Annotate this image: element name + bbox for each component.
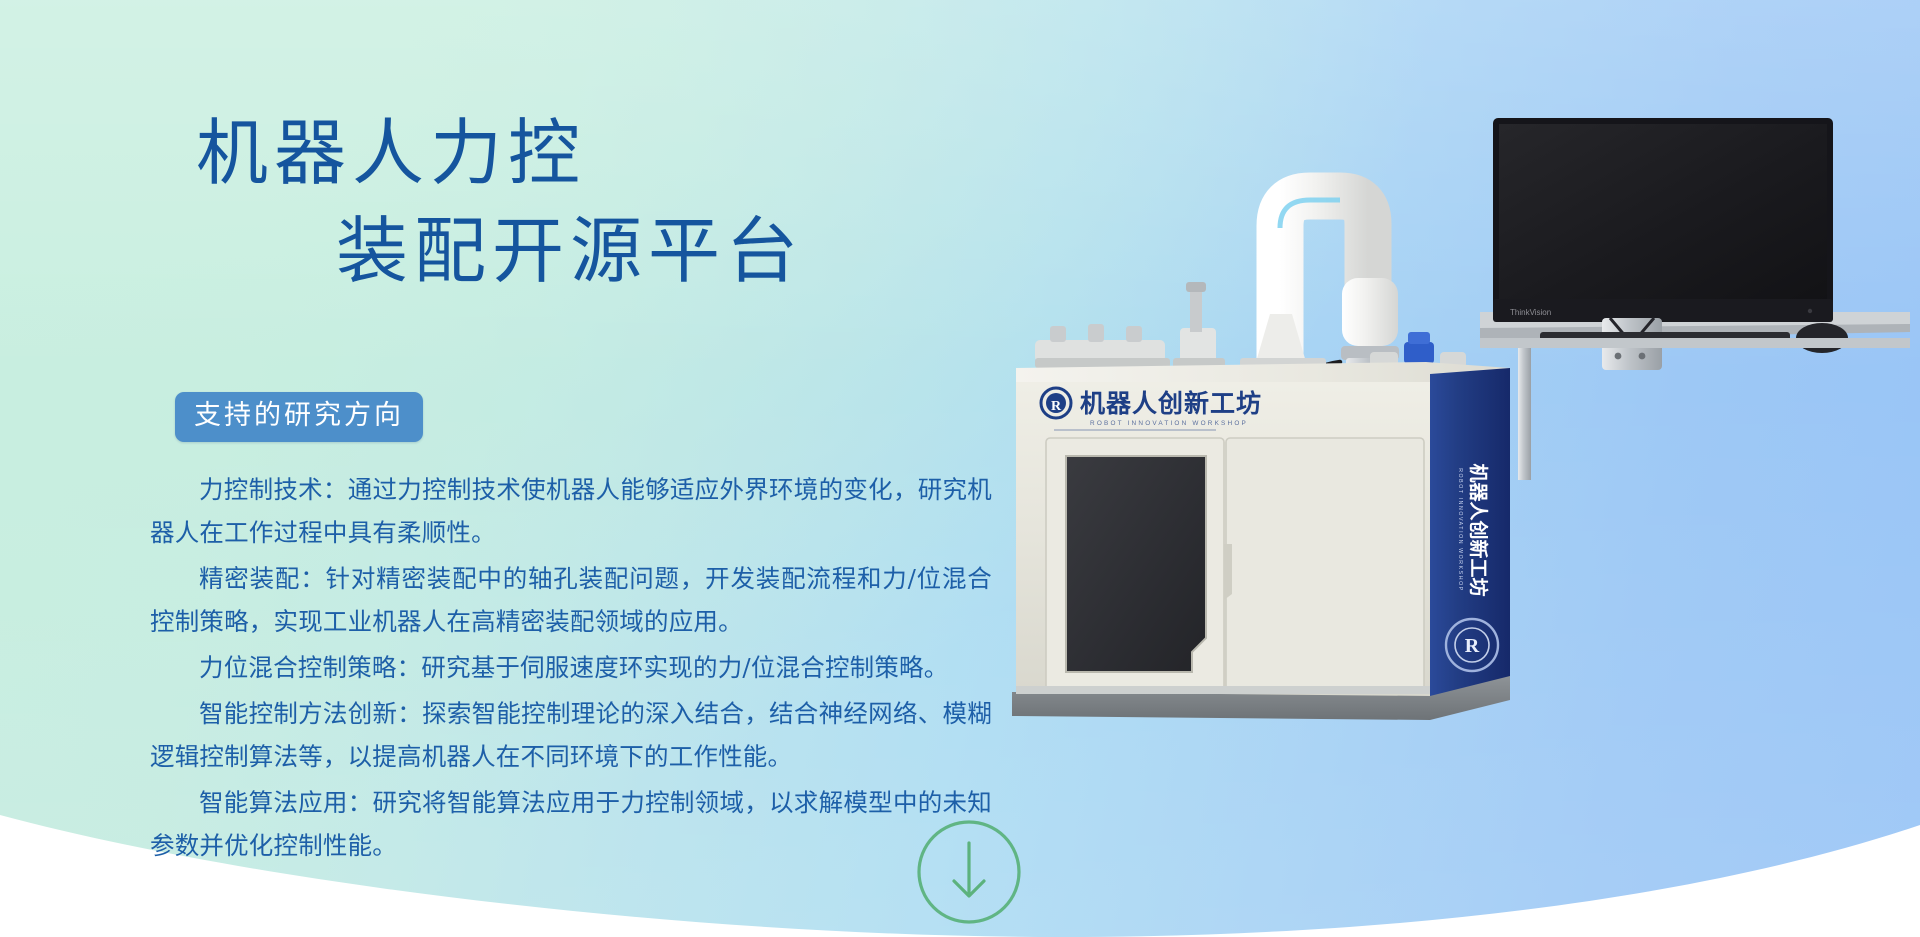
svg-text:R: R bbox=[1051, 399, 1062, 414]
research-item: 力位混合控制策略：研究基于伺服速度环实现的力/位混合控制策略。 bbox=[150, 646, 992, 689]
research-directions-list: 力控制技术：通过力控制技术使机器人能够适应外界环境的变化，研究机器人在工作过程中… bbox=[150, 468, 992, 870]
cabinet-logo-en: ROBOT INNOVATION WORKSHOP bbox=[1090, 420, 1248, 427]
equipment-cabinet: 机器人创新工坊 ROBOT INNOVATION WORKSHOP R R 机器… bbox=[1012, 362, 1510, 720]
research-item: 力控制技术：通过力控制技术使机器人能够适应外界环境的变化，研究机器人在工作过程中… bbox=[150, 468, 992, 554]
door-handle[interactable] bbox=[1224, 544, 1232, 600]
monitor-assembly: ThinkVision bbox=[1480, 118, 1910, 480]
scroll-down-button[interactable] bbox=[914, 817, 1024, 927]
section-badge: 支持的研究方向 bbox=[175, 392, 423, 442]
research-item: 智能算法应用：研究将智能算法应用于力控制领域，以求解模型中的未知参数并优化控制性… bbox=[150, 781, 992, 867]
research-item: 精密装配：针对精密装配中的轴孔装配问题，开发装配流程和力/位混合控制策略，实现工… bbox=[150, 557, 992, 643]
door-window bbox=[1066, 456, 1206, 672]
monitor-brand-label: ThinkVision bbox=[1510, 308, 1551, 317]
cabinet-door-right[interactable] bbox=[1226, 438, 1424, 690]
hero-banner: 机器人力控 装配开源平台 支持的研究方向 力控制技术：通过力控制技术使机器人能够… bbox=[0, 0, 1920, 937]
side-panel-logo-cn: 机器人创新工坊 bbox=[1467, 463, 1490, 596]
side-panel-logo: 机器人创新工坊 ROBOT INNOVATION WORKSHOP bbox=[1457, 463, 1490, 596]
cabinet-logo-cn: 机器人创新工坊 bbox=[1080, 389, 1262, 418]
research-item: 智能控制方法创新：探索智能控制理论的深入结合，结合神经网络、模糊逻辑控制算法等，… bbox=[150, 692, 992, 778]
workstation-illustration: ThinkVision bbox=[1010, 100, 1910, 800]
arrow-down-icon[interactable] bbox=[914, 817, 1024, 927]
svg-text:R: R bbox=[1465, 635, 1480, 657]
page-title: 机器人力控 装配开源平台 bbox=[0, 104, 980, 300]
headline-line-2: 装配开源平台 bbox=[0, 202, 980, 300]
product-photo: ThinkVision bbox=[1010, 100, 1910, 800]
headline-line-1: 机器人力控 bbox=[0, 104, 980, 202]
side-panel-logo-en: ROBOT INNOVATION WORKSHOP bbox=[1457, 468, 1463, 592]
